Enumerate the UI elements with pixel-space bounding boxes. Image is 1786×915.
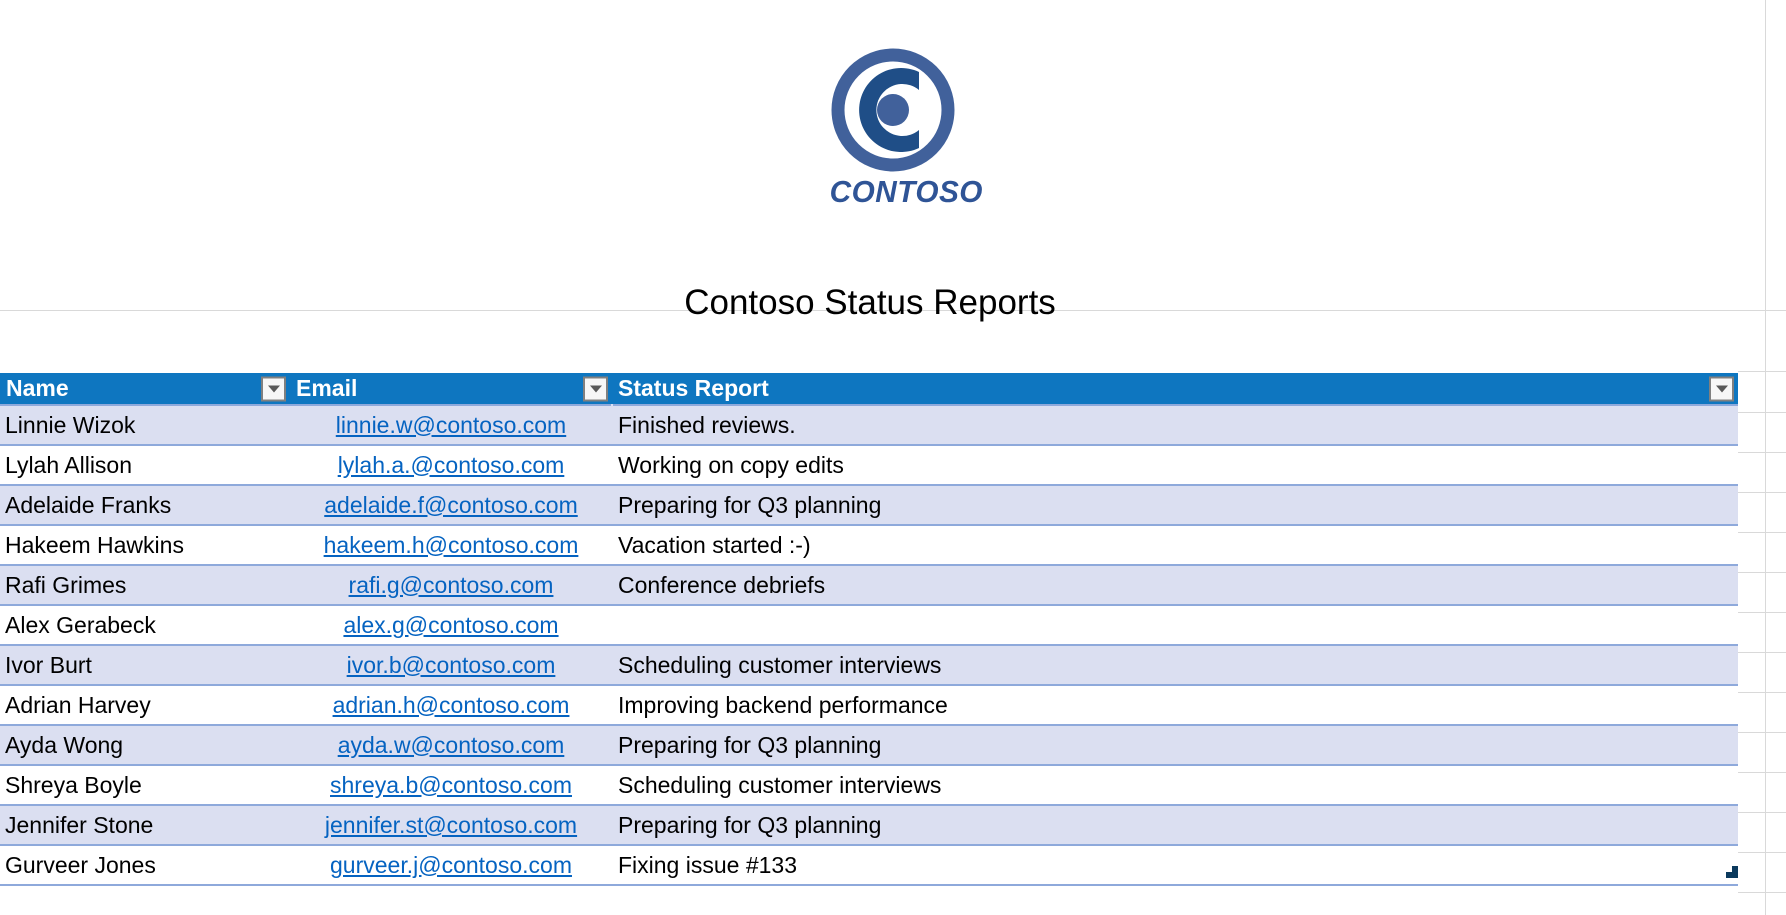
table-row[interactable]: Shreya Boyleshreya.b@contoso.comScheduli…: [0, 765, 1738, 805]
table-row[interactable]: Alex Gerabeckalex.g@contoso.com: [0, 605, 1738, 645]
cell-name[interactable]: Ayda Wong: [0, 725, 290, 765]
contoso-logo: CONTOSO: [0, 48, 1786, 210]
table-header-row: Name Email Status Report: [0, 373, 1738, 405]
worksheet-gridline-horizontal: [1738, 412, 1786, 413]
cell-email[interactable]: adrian.h@contoso.com: [290, 685, 612, 725]
cell-name[interactable]: Adrian Harvey: [0, 685, 290, 725]
worksheet-gridline-horizontal: [1738, 492, 1786, 493]
contoso-circular-c-logo-icon: [831, 48, 955, 172]
table-row[interactable]: Ivor Burtivor.b@contoso.comScheduling cu…: [0, 645, 1738, 685]
cell-status-report[interactable]: Scheduling customer interviews: [612, 765, 1738, 805]
worksheet-gridline-horizontal: [1738, 612, 1786, 613]
cell-status-report[interactable]: Preparing for Q3 planning: [612, 805, 1738, 845]
column-header-name[interactable]: Name: [0, 373, 290, 405]
status-reports-table: Name Email Status Report Linnie Wizoklin…: [0, 373, 1738, 886]
cell-email[interactable]: rafi.g@contoso.com: [290, 565, 612, 605]
cell-email[interactable]: adelaide.f@contoso.com: [290, 485, 612, 525]
cell-name[interactable]: Shreya Boyle: [0, 765, 290, 805]
column-header-name-label: Name: [6, 375, 69, 402]
email-hyperlink[interactable]: gurveer.j@contoso.com: [330, 852, 572, 878]
cell-email[interactable]: ivor.b@contoso.com: [290, 645, 612, 685]
worksheet-gridline-horizontal: [1738, 452, 1786, 453]
worksheet-gridline-horizontal: [1738, 812, 1786, 813]
column-header-email[interactable]: Email: [290, 373, 612, 405]
worksheet-gridline-horizontal: [1738, 371, 1786, 372]
table-row[interactable]: Jennifer Stonejennifer.st@contoso.comPre…: [0, 805, 1738, 845]
table-row[interactable]: Rafi Grimesrafi.g@contoso.comConference …: [0, 565, 1738, 605]
table-row[interactable]: Adrian Harveyadrian.h@contoso.comImprovi…: [0, 685, 1738, 725]
cell-name[interactable]: Gurveer Jones: [0, 845, 290, 885]
worksheet-gridline-horizontal: [1738, 772, 1786, 773]
table-row[interactable]: Adelaide Franksadelaide.f@contoso.comPre…: [0, 485, 1738, 525]
email-hyperlink[interactable]: jennifer.st@contoso.com: [325, 812, 577, 838]
cell-name[interactable]: Linnie Wizok: [0, 405, 290, 445]
column-header-status-report-label: Status Report: [618, 375, 769, 402]
worksheet-gridline-horizontal: [1738, 652, 1786, 653]
cell-email[interactable]: shreya.b@contoso.com: [290, 765, 612, 805]
cell-name[interactable]: Adelaide Franks: [0, 485, 290, 525]
cell-email[interactable]: jennifer.st@contoso.com: [290, 805, 612, 845]
worksheet-gridline-horizontal: [1738, 732, 1786, 733]
cell-email[interactable]: hakeem.h@contoso.com: [290, 525, 612, 565]
cell-name[interactable]: Hakeem Hawkins: [0, 525, 290, 565]
email-hyperlink[interactable]: adelaide.f@contoso.com: [324, 492, 578, 518]
worksheet-gridline-horizontal: [1738, 572, 1786, 573]
filter-dropdown-icon-name[interactable]: [261, 376, 286, 401]
cell-status-report[interactable]: Fixing issue #133: [612, 845, 1738, 885]
worksheet-gridline-horizontal: [1738, 692, 1786, 693]
cell-status-report[interactable]: Scheduling customer interviews: [612, 645, 1738, 685]
worksheet-gridline-horizontal: [1738, 852, 1786, 853]
email-hyperlink[interactable]: linnie.w@contoso.com: [336, 412, 566, 438]
cell-name[interactable]: Rafi Grimes: [0, 565, 290, 605]
cell-status-report[interactable]: Conference debriefs: [612, 565, 1738, 605]
column-header-email-label: Email: [296, 375, 357, 402]
cell-name[interactable]: Lylah Allison: [0, 445, 290, 485]
worksheet-gridline-vertical: [1765, 0, 1766, 915]
table-body: Linnie Wizoklinnie.w@contoso.comFinished…: [0, 405, 1738, 885]
table-row[interactable]: Lylah Allisonlylah.a.@contoso.comWorking…: [0, 445, 1738, 485]
cell-email[interactable]: linnie.w@contoso.com: [290, 405, 612, 445]
email-hyperlink[interactable]: rafi.g@contoso.com: [349, 572, 554, 598]
table-row[interactable]: Ayda Wongayda.w@contoso.comPreparing for…: [0, 725, 1738, 765]
cell-status-report[interactable]: Improving backend performance: [612, 685, 1738, 725]
email-hyperlink[interactable]: ivor.b@contoso.com: [347, 652, 556, 678]
filter-dropdown-icon-status-report[interactable]: [1709, 376, 1734, 401]
contoso-wordmark: CONTOSO: [830, 174, 957, 210]
table-row[interactable]: Hakeem Hawkinshakeem.h@contoso.comVacati…: [0, 525, 1738, 565]
cell-name[interactable]: Jennifer Stone: [0, 805, 290, 845]
table-row[interactable]: Gurveer Jonesgurveer.j@contoso.comFixing…: [0, 845, 1738, 885]
email-hyperlink[interactable]: ayda.w@contoso.com: [338, 732, 565, 758]
cell-email[interactable]: alex.g@contoso.com: [290, 605, 612, 645]
filter-dropdown-icon-email[interactable]: [583, 376, 608, 401]
cell-name[interactable]: Ivor Burt: [0, 645, 290, 685]
table-row[interactable]: Linnie Wizoklinnie.w@contoso.comFinished…: [0, 405, 1738, 445]
cell-status-report[interactable]: [612, 605, 1738, 645]
column-header-status-report[interactable]: Status Report: [612, 373, 1738, 405]
table-header: Name Email Status Report: [0, 373, 1738, 405]
cell-status-report[interactable]: Vacation started :-): [612, 525, 1738, 565]
page-title: Contoso Status Reports: [0, 281, 1740, 325]
table-resize-handle[interactable]: [1726, 866, 1738, 878]
worksheet-gridline-horizontal: [1738, 892, 1786, 893]
email-hyperlink[interactable]: hakeem.h@contoso.com: [324, 532, 579, 558]
cell-status-report[interactable]: Preparing for Q3 planning: [612, 725, 1738, 765]
email-hyperlink[interactable]: alex.g@contoso.com: [343, 612, 558, 638]
cell-email[interactable]: gurveer.j@contoso.com: [290, 845, 612, 885]
email-hyperlink[interactable]: adrian.h@contoso.com: [333, 692, 570, 718]
worksheet-gridline-horizontal: [1738, 532, 1786, 533]
cell-email[interactable]: ayda.w@contoso.com: [290, 725, 612, 765]
cell-email[interactable]: lylah.a.@contoso.com: [290, 445, 612, 485]
email-hyperlink[interactable]: lylah.a.@contoso.com: [338, 452, 565, 478]
email-hyperlink[interactable]: shreya.b@contoso.com: [330, 772, 572, 798]
cell-status-report[interactable]: Finished reviews.: [612, 405, 1738, 445]
cell-name[interactable]: Alex Gerabeck: [0, 605, 290, 645]
cell-status-report[interactable]: Preparing for Q3 planning: [612, 485, 1738, 525]
excel-worksheet: CONTOSO Contoso Status Reports Name Emai…: [0, 0, 1786, 915]
cell-status-report[interactable]: Working on copy edits: [612, 445, 1738, 485]
